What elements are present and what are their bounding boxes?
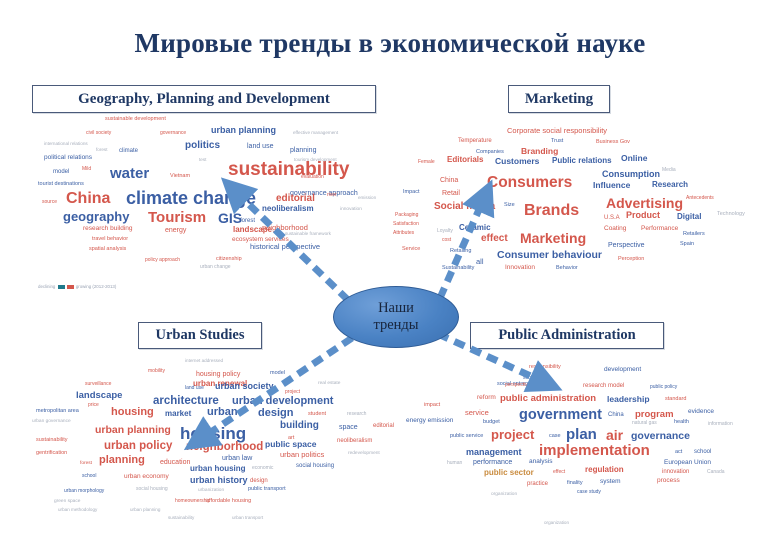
cloud-word: Retailing	[450, 249, 471, 255]
cloud-word: gentrification	[36, 451, 67, 457]
cloud-word: urban morphology	[64, 489, 104, 494]
cloud-word: Ceramic	[459, 224, 491, 232]
cloud-word: development	[604, 367, 641, 374]
cloud-word: Mild	[82, 167, 91, 172]
cloud-word: GIS	[218, 211, 242, 225]
cloud-word: Coating	[604, 226, 626, 233]
cloud-word: social housing	[136, 487, 168, 492]
cloud-word: urban governance	[32, 420, 71, 425]
cloud-word: budget	[483, 420, 500, 426]
cloud-word: Attributes	[393, 231, 414, 236]
cloud-word: design	[250, 478, 268, 484]
cloud-word: Media	[662, 168, 676, 173]
cloud-word: system	[600, 479, 621, 486]
cloud-word: Antecedents	[686, 196, 714, 201]
cloud-word: effect	[481, 234, 508, 244]
cloud-word: research	[347, 412, 366, 417]
cloud-word: energy emission	[406, 418, 453, 425]
cloud-word: organization	[491, 493, 517, 498]
category-box-marketing[interactable]: Marketing	[508, 85, 610, 113]
cloud-word: policy approach	[145, 258, 180, 263]
cloud-word: public space	[265, 440, 317, 449]
cloud-word: information	[708, 422, 733, 427]
category-box-public-administration[interactable]: Public Administration	[470, 322, 664, 349]
cloud-word: water	[110, 166, 149, 181]
cloud-word: Impact	[403, 190, 420, 196]
cloud-word: education	[160, 459, 190, 466]
cloud-word: organization	[544, 521, 569, 526]
cloud-word: public administration	[500, 394, 596, 404]
cloud-word: Customers	[495, 157, 539, 166]
cloud-word: space	[339, 424, 358, 431]
cloud-word: tourism development	[294, 158, 337, 163]
cloud-word: process	[657, 478, 680, 485]
cloud-word: Loyalty	[437, 229, 453, 234]
cloud-word: price	[88, 403, 99, 408]
cloud-word: planning	[290, 147, 316, 154]
cloud-word: spatial analysis	[89, 247, 126, 253]
cloud-word: international relations	[44, 142, 88, 147]
cloud-word: regulation	[585, 466, 624, 474]
cloud-word: Technology	[717, 212, 745, 218]
cloud-word: Retail	[442, 190, 460, 197]
cloud-word: case	[549, 434, 561, 440]
cloud-word: Perspective	[608, 242, 645, 249]
cloud-word: natural gas	[632, 421, 657, 426]
cloud-word: perspective	[505, 383, 531, 388]
cloud-word: building	[280, 421, 319, 431]
cloud-word: citizenship	[216, 257, 242, 263]
cloud-word: neoliberalism	[337, 438, 372, 444]
cloud-word: surveillance	[85, 382, 111, 387]
cloud-word: Satisfaction	[393, 222, 419, 227]
cloud-word: editorial	[373, 423, 394, 429]
cloud-word: Branding	[521, 147, 558, 156]
cloud-word: Marketing	[520, 231, 586, 245]
cloud-word: case study	[577, 490, 601, 495]
cloud-word: governance	[160, 131, 186, 136]
cloud-word: practice	[527, 481, 548, 487]
cloud-word: urban society	[215, 382, 274, 391]
category-label-marketing: Marketing	[525, 91, 593, 108]
legend-growing-label: growing (2012-2013)	[76, 284, 117, 289]
cloud-word: Perception	[618, 257, 644, 263]
cloud-word: urban	[207, 407, 238, 418]
cloud-word: Canada	[707, 470, 725, 475]
cloud-word: Sustainability	[442, 266, 474, 272]
cloud-word: Online	[621, 154, 647, 163]
category-box-geography[interactable]: Geography, Planning and Development	[32, 85, 376, 113]
slide-canvas: Мировые тренды в экономической науке sus…	[0, 0, 780, 540]
page-title: Мировые тренды в экономической науке	[0, 28, 780, 59]
cloud-word: research building	[83, 226, 133, 233]
cloud-word: housing policy	[196, 371, 240, 378]
center-node-line2: тренды	[373, 317, 418, 334]
cloud-word: emission	[358, 196, 376, 201]
cloud-word: China	[440, 177, 458, 184]
cloud-word: green space	[54, 500, 80, 505]
cloud-word: urban planning	[211, 126, 276, 135]
cloud-word: land use	[185, 386, 204, 391]
cloud-word: neoliberalism	[262, 205, 314, 213]
cloud-word: Innovation	[505, 265, 535, 272]
cloud-word: Performance	[641, 226, 678, 233]
cloud-word: economic	[252, 466, 273, 471]
cloud-word: Product	[626, 211, 660, 220]
cloud-word: travel behavior	[92, 237, 128, 243]
cloud-word: editorial	[276, 194, 315, 204]
cloud-word: sustainability	[168, 516, 194, 521]
cloud-word: public sector	[484, 469, 534, 477]
cloud-word: river	[327, 193, 337, 198]
cloud-word: cost	[442, 238, 451, 243]
cloud-word: Spain	[680, 242, 694, 248]
cloud-word: energy	[165, 227, 186, 234]
cloud-word: Vietnam	[170, 174, 190, 180]
cloud-word: Editorials	[447, 156, 483, 164]
cloud-word: climate	[119, 148, 138, 154]
cloud-word: school	[82, 474, 96, 479]
cloud-word: urban economy	[124, 474, 169, 481]
cloud-word: Female	[418, 160, 435, 165]
cloud-word: Size	[504, 203, 515, 209]
cloud-word: health	[674, 420, 689, 426]
cloud-word: forest	[240, 218, 255, 224]
cloud-word: Public relations	[552, 157, 612, 165]
cloud-word: metropolitan area	[36, 409, 79, 415]
category-box-urban-studies[interactable]: Urban Studies	[138, 322, 262, 349]
cloud-word: analysis	[529, 459, 552, 466]
cloud-word: governance	[631, 431, 690, 442]
cloud-word: Business Gov	[596, 140, 630, 146]
cloud-word: impact	[424, 403, 440, 409]
cloud-word: Service	[402, 247, 420, 253]
cloud-word: research model	[583, 383, 624, 389]
cloud-word: innovation	[662, 469, 689, 475]
cloud-word: source	[42, 200, 57, 205]
cloud-word: Digital	[677, 213, 701, 221]
cloud-word: China	[66, 191, 110, 207]
cloud-word: tourist destinations	[38, 182, 84, 188]
cloud-word: service	[465, 409, 489, 417]
cloud-word: urban change	[200, 265, 231, 270]
cloud-word: model	[53, 169, 69, 175]
cloud-word: sustainable development	[105, 117, 166, 123]
center-node-line1: Наши	[378, 300, 414, 317]
cloud-word: implementation	[539, 443, 650, 458]
cloud-word: urban development	[232, 396, 333, 407]
cloud-word: housing	[180, 425, 246, 442]
cloud-word: urbanization	[198, 489, 224, 494]
cloud-word: urban law	[222, 455, 252, 462]
cloud-word: forest	[80, 462, 92, 467]
cloud-word: urban transport	[232, 516, 263, 521]
cloud-word: effective management	[293, 131, 338, 136]
cloud-word: urban history	[190, 476, 248, 485]
cloud-word: land use	[247, 143, 273, 150]
cloud-word: European Union	[664, 460, 711, 467]
cloud-word: Influence	[593, 181, 630, 190]
cloud-word: urban planning	[130, 508, 160, 513]
cloud-word: Consumption	[602, 170, 660, 179]
cloud-word: public policy	[650, 385, 677, 390]
cloud-word: Tourism	[148, 210, 206, 225]
cloud-word: Behavior	[556, 266, 578, 272]
cloud-word: political relations	[44, 155, 92, 162]
cloud-word: Advertising	[606, 196, 683, 210]
cloud-word: evaluation	[301, 175, 324, 180]
cloud-word: internet addressed	[185, 359, 223, 364]
cloud-word: market	[165, 410, 191, 418]
cloud-word: air	[606, 428, 623, 442]
cloud-word: leadership	[607, 395, 650, 404]
cloud-word: affordable housing	[206, 499, 251, 505]
cloud-word: redevelopment	[348, 452, 380, 457]
cloud-word: urban policy	[104, 441, 172, 453]
cloud-word: planning	[99, 455, 145, 466]
cloud-word: all	[476, 258, 484, 266]
cloud-word: mobility	[148, 369, 165, 374]
cloud-word: public service	[450, 434, 483, 440]
cloud-word: public transport	[248, 487, 286, 493]
cloud-word: China	[608, 412, 624, 418]
category-label-geography: Geography, Planning and Development	[78, 91, 330, 108]
cloud-word: U.S.A	[604, 215, 620, 221]
cloud-word: program	[635, 410, 674, 420]
cloud-word: sustainable framework	[285, 232, 331, 237]
cloud-word: Trust	[551, 139, 563, 145]
cloud-word: standard	[665, 397, 686, 403]
cloud-word: neighborhood	[186, 442, 263, 454]
legend-swatch-red	[67, 285, 74, 289]
cloud-word: plan	[566, 427, 597, 442]
cloud-word: Social media	[434, 202, 495, 212]
cloud-word: evidence	[688, 409, 714, 416]
cloud-word: Packaging	[395, 213, 418, 218]
category-label-public-administration: Public Administration	[498, 327, 635, 344]
cloud-word: effect	[553, 470, 565, 475]
cloud-word: finality	[567, 481, 583, 487]
cloud-word: Consumer behaviour	[497, 250, 602, 261]
cloud-word: school	[694, 449, 711, 455]
cloud-word: housing	[111, 407, 154, 418]
cloud-word: geography	[63, 210, 129, 223]
center-node-our-trends[interactable]: Наши тренды	[333, 286, 459, 348]
cloud-word: climate change	[126, 189, 256, 207]
cloud-word: design	[258, 408, 293, 419]
cloud-word: Corporate social responsibility	[507, 127, 607, 135]
cloud-word: responsibility	[529, 365, 561, 371]
category-label-urban-studies: Urban Studies	[155, 327, 244, 344]
cloud-word: forest	[96, 148, 108, 153]
cloud-word: model	[270, 371, 285, 377]
cloud-word: innovation	[340, 208, 362, 213]
cloud-word: Brands	[524, 203, 579, 219]
legend-declining-label: declining	[38, 284, 55, 289]
cloud-word: Retailers	[683, 232, 705, 238]
cloud-word: act	[675, 450, 682, 456]
cloud-word: landscape	[76, 391, 122, 401]
cloud-word: urban politics	[280, 451, 324, 459]
cloud-word: test	[199, 158, 206, 163]
cloud-word: sustainability	[228, 160, 349, 179]
cloud-word: student	[308, 412, 326, 418]
cloud-word: politics	[185, 141, 220, 151]
cloud-word: historical perspective	[250, 243, 320, 251]
cloud-word: management	[466, 448, 522, 457]
cloud-word: civil society	[86, 131, 111, 136]
word-cloud-legend: declining growing (2012-2013)	[38, 284, 116, 289]
cloud-word: sustainability	[36, 438, 68, 444]
legend-swatch-teal	[58, 285, 65, 289]
cloud-word: urban planning	[95, 425, 171, 436]
cloud-word: project	[491, 428, 534, 441]
cloud-word: human	[447, 461, 462, 466]
cloud-word: real estate	[318, 382, 340, 387]
cloud-word: reform	[477, 395, 496, 402]
cloud-word: urban methodology	[58, 508, 97, 513]
cloud-word: urban housing	[190, 465, 246, 473]
cloud-word: Consumers	[487, 175, 572, 191]
cloud-word: social housing	[296, 463, 334, 469]
cloud-word: government	[519, 408, 602, 423]
cloud-word: Temperature	[458, 138, 492, 144]
cloud-word: Research	[652, 181, 688, 189]
cloud-word: performance	[473, 459, 512, 466]
